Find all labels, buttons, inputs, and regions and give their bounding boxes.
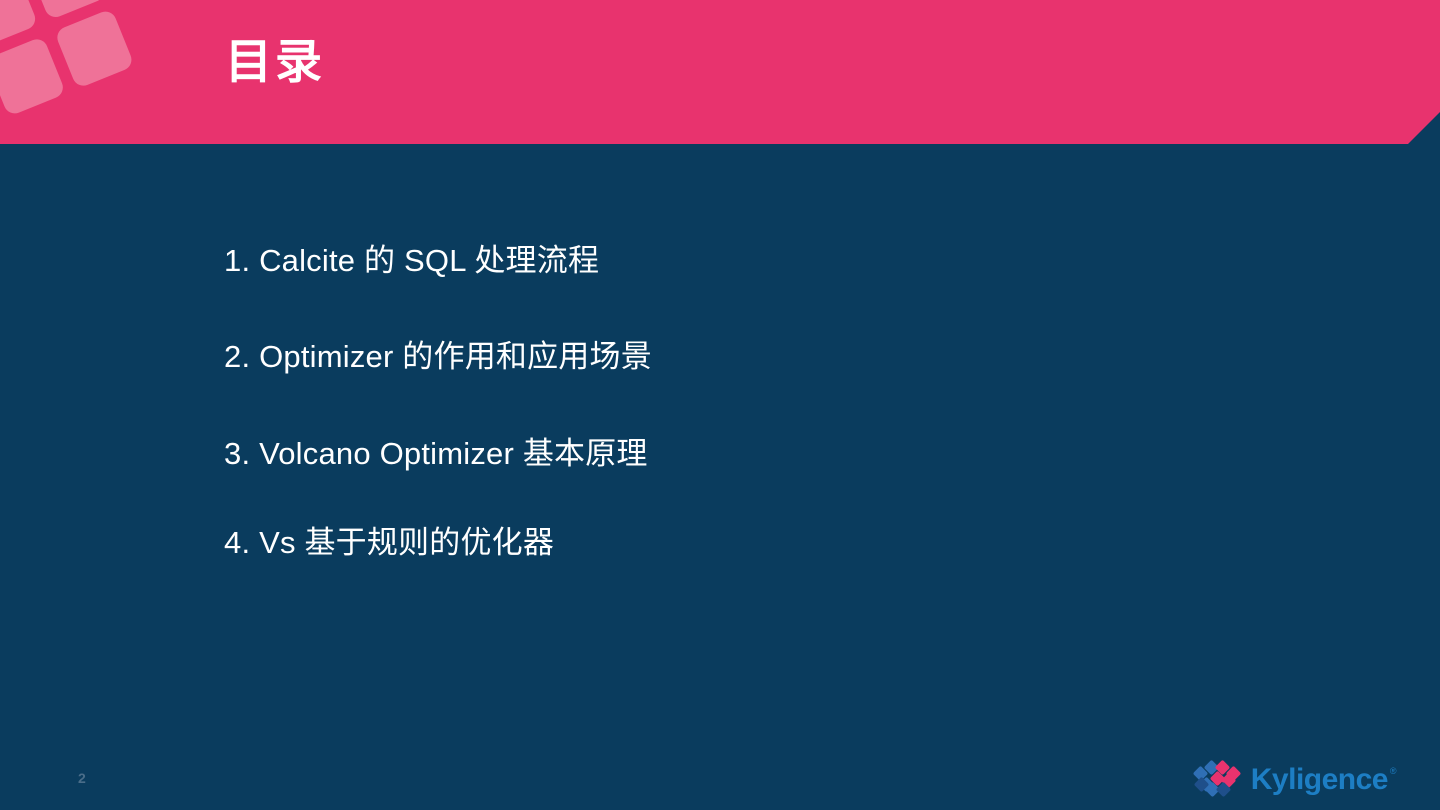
kyligence-diamond-grid-icon — [1194, 763, 1240, 797]
slide: 目录 1. Calcite 的 SQL 处理流程 2. Optimizer 的作… — [0, 0, 1440, 810]
agenda-item-4: 4. Vs 基于规则的优化器 — [224, 525, 1224, 561]
agenda-item-3: 3. Volcano Optimizer 基本原理 — [224, 436, 1224, 472]
header-band: 目录 — [0, 0, 1440, 144]
kyligence-logo: Kyligence® — [1194, 760, 1388, 800]
logo-word-text: Kyligence — [1251, 763, 1388, 796]
agenda-item-2: 2. Optimizer 的作用和应用场景 — [224, 339, 1224, 375]
agenda-list: 1. Calcite 的 SQL 处理流程 2. Optimizer 的作用和应… — [224, 243, 1224, 561]
logo-wordmark: Kyligence® — [1251, 765, 1388, 795]
agenda-item-1: 1. Calcite 的 SQL 处理流程 — [224, 243, 1224, 279]
page-number: 2 — [78, 770, 86, 786]
page-title: 目录 — [225, 34, 325, 90]
trademark-symbol: ® — [1390, 767, 1396, 776]
